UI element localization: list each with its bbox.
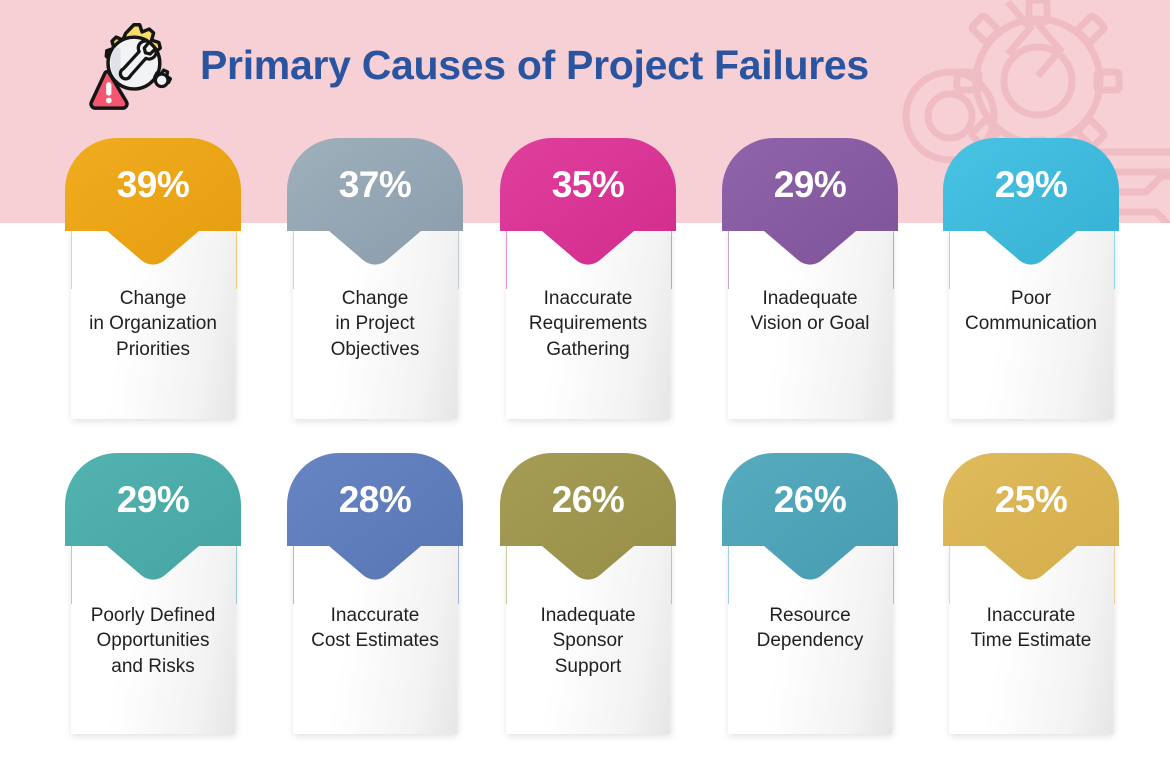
stat-card-cap (722, 453, 898, 583)
stat-card-cap (943, 453, 1119, 583)
stat-card-cap (287, 138, 463, 268)
stat-card-cap (500, 453, 676, 583)
stat-card-label: Change in Organization Priorities (53, 286, 253, 362)
stat-card-cap (287, 453, 463, 583)
stat-card-cap (65, 453, 241, 583)
stat-card-cap (943, 138, 1119, 268)
stat-card-label: Inadequate Vision or Goal (710, 286, 910, 337)
stat-card-label: Poorly Defined Opportunities and Risks (53, 603, 253, 679)
stat-card-cap (65, 138, 241, 268)
infographic-canvas: Primary Causes of Project Failures 39%Ch… (0, 0, 1170, 780)
stat-card-cap (722, 138, 898, 268)
stat-card-label: Resource Dependency (710, 603, 910, 654)
stat-card-label: Inadequate Sponsor Support (488, 603, 688, 679)
cards-grid: 39%Change in Organization Priorities37%C… (0, 0, 1170, 780)
stat-card-label: Inaccurate Cost Estimates (275, 603, 475, 654)
stat-card-label: Inaccurate Time Estimate (931, 603, 1131, 654)
stat-card-cap (500, 138, 676, 268)
stat-card-label: Change in Project Objectives (275, 286, 475, 362)
stat-card-label: Poor Communication (931, 286, 1131, 337)
stat-card-label: Inaccurate Requirements Gathering (488, 286, 688, 362)
